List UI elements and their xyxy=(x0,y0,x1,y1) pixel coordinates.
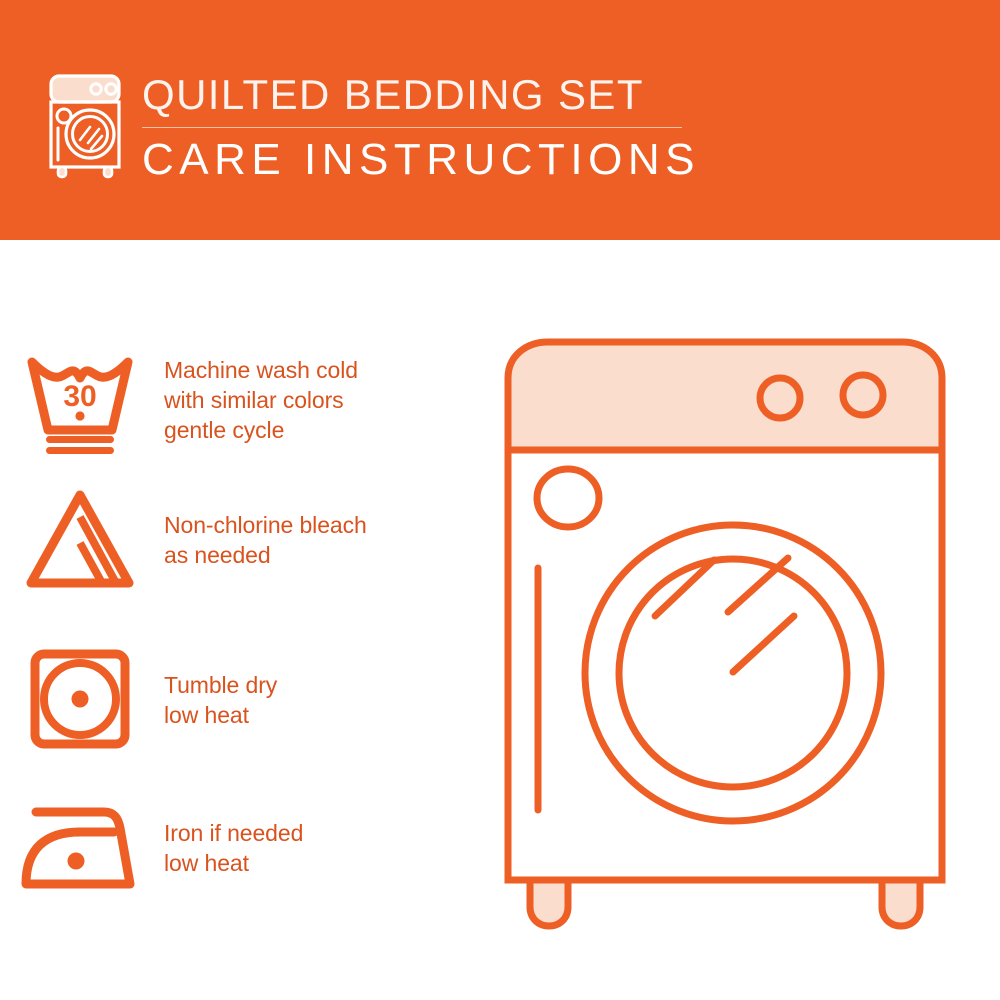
washing-machine-icon xyxy=(44,72,126,180)
care-line-3: gentle cycle xyxy=(164,415,358,445)
care-instruction-text-bleach: Non-chlorine bleach as needed xyxy=(160,510,367,570)
care-line-1: Tumble dry xyxy=(164,670,277,700)
front-load-washing-machine-illustration xyxy=(480,320,990,950)
care-instruction-item-iron: Iron if needed low heat xyxy=(0,788,480,908)
knob-left xyxy=(760,378,800,418)
header-title-block: QUILTED BEDDING SET CARE INSTRUCTIONS xyxy=(142,70,702,186)
care-line-1: Non-chlorine bleach xyxy=(164,510,367,540)
wash-temperature-label: 30 xyxy=(63,380,96,413)
title-divider xyxy=(142,127,682,128)
leg-left xyxy=(530,880,568,926)
iron-low-heat-icon xyxy=(0,788,160,908)
care-instruction-text-iron: Iron if needed low heat xyxy=(160,818,303,878)
care-line-1: Iron if needed xyxy=(164,818,303,848)
care-instruction-item-tumble-dry: Tumble dry low heat xyxy=(0,640,480,760)
page-title: QUILTED BEDDING SET xyxy=(142,70,702,120)
detergent-dial xyxy=(537,469,599,527)
care-instruction-item-bleach: Non-chlorine bleach as needed xyxy=(0,480,480,600)
header-banner: QUILTED BEDDING SET CARE INSTRUCTIONS xyxy=(0,0,1000,240)
care-line-1: Machine wash cold xyxy=(164,355,358,385)
non-chlorine-bleach-triangle-icon xyxy=(0,480,160,600)
care-line-2: low heat xyxy=(164,848,303,878)
care-line-2: low heat xyxy=(164,700,277,730)
care-instruction-text-tumble-dry: Tumble dry low heat xyxy=(160,670,277,730)
tumble-dry-low-heat-icon xyxy=(0,640,160,760)
leg-right xyxy=(882,880,920,926)
knob-right xyxy=(843,375,883,415)
wash-basin-30-gentle-icon: 30 xyxy=(0,340,160,460)
care-instruction-text-wash: Machine wash cold with similar colors ge… xyxy=(160,355,358,445)
care-instruction-item-wash: 30 Machine wash cold with similar colors… xyxy=(0,340,480,460)
care-instruction-list: 30 Machine wash cold with similar colors… xyxy=(0,240,480,1000)
care-line-2: with similar colors xyxy=(164,385,358,415)
care-line-2: as needed xyxy=(164,540,367,570)
page-subtitle: CARE INSTRUCTIONS xyxy=(142,134,702,186)
